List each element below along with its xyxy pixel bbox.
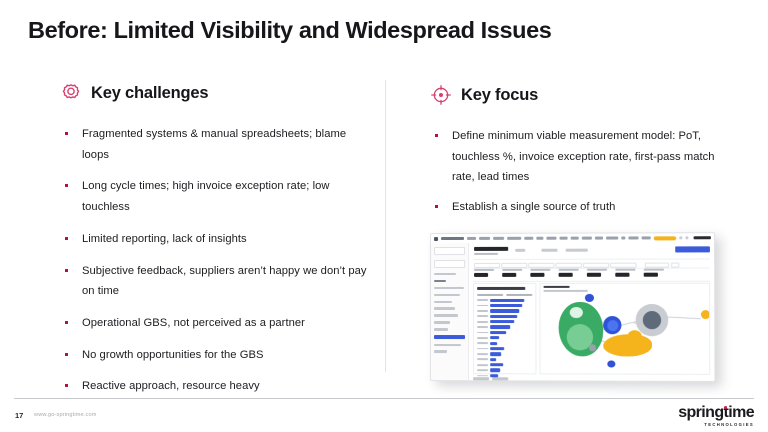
- dashboard-nav-item: [571, 237, 579, 239]
- dashboard-bar-row: [477, 304, 532, 307]
- list-item: No growth opportunities for the GBS: [60, 345, 370, 366]
- brand-logo-dot-icon: [724, 406, 727, 409]
- dashboard-kpi: [502, 269, 522, 277]
- dashboard-nav-item: [595, 237, 604, 239]
- dashboard-sidebar-row: [434, 301, 452, 303]
- dashboard-kpi: [530, 269, 550, 277]
- dashboard-nav-item: [582, 237, 592, 239]
- dashboard-sidebar-row: [434, 280, 446, 282]
- list-item: Long cycle times; high invoice exception…: [60, 176, 370, 217]
- graph-node-darkgrey: [643, 311, 661, 329]
- dashboard-view-title: [474, 247, 508, 251]
- dashboard-sidebar-row: [434, 350, 447, 352]
- dashboard-nav-item: [547, 237, 558, 239]
- graph-node-blue-small: [607, 360, 615, 367]
- dashboard-nav-item: [507, 237, 522, 239]
- dashboard-nav-item: [479, 237, 490, 239]
- dashboard-topbar-icon: [685, 236, 688, 239]
- dashboard-kpi: [587, 269, 607, 277]
- dashboard-bar-row: [477, 352, 532, 355]
- list-item: Reactive approach, resource heavy: [60, 376, 370, 397]
- dashboard-sidebar-row: [434, 328, 448, 330]
- dashboard-filter: [528, 262, 554, 267]
- dashboard-sidebar-box: [434, 247, 465, 255]
- dashboard-brand-text: [441, 237, 464, 240]
- dashboard-corner-logo: [693, 236, 711, 240]
- dashboard-bar-row: [477, 342, 532, 345]
- dashboard-bar-row: [477, 309, 532, 312]
- dashboard-bar-row: [477, 315, 532, 318]
- graph-node-pale: [570, 307, 583, 318]
- graph-node-grey-small: [589, 344, 596, 351]
- dashboard-sidebar-row: [434, 314, 458, 316]
- dashboard-nav-item: [628, 237, 639, 239]
- dashboard-view-subtitle: [474, 253, 498, 255]
- list-item: Limited reporting, lack of insights: [60, 229, 370, 250]
- dashboard-nav-item: [560, 237, 568, 239]
- graph-node-orange-small: [701, 310, 710, 319]
- key-challenges-column: Key challenges Fragmented systems & manu…: [60, 82, 370, 408]
- dashboard-filter: [583, 262, 609, 267]
- dashboard-bar-row: [477, 299, 532, 302]
- key-focus-heading: Key focus: [430, 84, 730, 106]
- brand-logo-wordmark: springtime: [678, 404, 754, 421]
- gear-icon: [60, 82, 82, 104]
- dashboard-footer-tab: [492, 377, 508, 379]
- dashboard-kpi: [615, 269, 635, 277]
- key-focus-list: Define minimum viable measurement model:…: [430, 126, 730, 218]
- dashboard-chip: [541, 249, 557, 252]
- dashboard-screenshot: [430, 233, 712, 381]
- list-item: Operational GBS, not perceived as a part…: [60, 313, 370, 334]
- dashboard-filter: [645, 262, 669, 267]
- dashboard-nav-item: [642, 237, 651, 239]
- dashboard-sidebar-row: [434, 273, 456, 275]
- dashboard-topbar-icon: [680, 236, 683, 239]
- dashboard-bar-row: [477, 363, 532, 366]
- list-item: Fragmented systems & manual spreadsheets…: [60, 124, 370, 165]
- page-title: Before: Limited Visibility and Widesprea…: [28, 17, 551, 44]
- dashboard-nav-item: [525, 237, 534, 239]
- list-item: Establish a single source of truth: [430, 197, 730, 218]
- dashboard-sidebar-row: [434, 344, 461, 346]
- dashboard-sidebar-selected-row: [434, 335, 465, 339]
- target-crosshair-icon: [430, 84, 452, 106]
- graph-node-blue-small: [585, 294, 594, 302]
- dashboard-nav-item: [493, 237, 503, 239]
- dashboard-chip: [566, 249, 588, 252]
- dashboard-sidebar-box: [434, 260, 465, 268]
- dashboard-footer-tabs: [473, 377, 508, 380]
- dashboard-graph-subtitle: [543, 290, 587, 292]
- dashboard-bar-chart-panel: [473, 283, 536, 374]
- dashboard-kpi: [559, 269, 579, 277]
- dashboard-bar-row: [477, 336, 532, 339]
- graph-node-orange: [628, 330, 642, 342]
- dashboard-nav-item: [467, 237, 477, 239]
- dashboard-graph-title: [543, 286, 569, 288]
- dashboard-bar-row: [477, 358, 532, 361]
- dashboard-bar-row: [477, 347, 532, 350]
- key-focus-column: Key focus Define minimum viable measurem…: [430, 84, 730, 227]
- dashboard-brand-icon: [434, 237, 438, 241]
- brand-logo: springtime TECHNOLOGIES: [678, 404, 754, 427]
- dashboard-panel-columns: [477, 294, 532, 296]
- brand-logo-name: springtime: [678, 405, 754, 421]
- dashboard-kpi: [644, 269, 664, 277]
- dashboard-sidebar-row: [434, 294, 460, 296]
- dashboard-chip: [515, 249, 525, 252]
- dashboard-bar-row: [477, 326, 532, 329]
- key-challenges-label: Key challenges: [91, 84, 208, 103]
- dashboard-bar-row: [477, 331, 532, 334]
- dashboard-panel-title: [477, 287, 525, 290]
- key-challenges-heading: Key challenges: [60, 82, 370, 104]
- page-number: 17: [15, 411, 23, 420]
- brand-logo-subtitle: TECHNOLOGIES: [678, 423, 754, 427]
- dashboard-filter: [501, 262, 527, 267]
- key-focus-label: Key focus: [461, 86, 538, 105]
- footer-url: www.go-springtime.com: [34, 412, 97, 418]
- list-item: Define minimum viable measurement model:…: [430, 126, 730, 188]
- key-challenges-list: Fragmented systems & manual spreadsheets…: [60, 124, 370, 397]
- dashboard-bar-row: [477, 369, 532, 372]
- dashboard-screenshot-content: [431, 233, 714, 381]
- dashboard-bar-row: [477, 320, 532, 323]
- dashboard-sidebar: [431, 243, 469, 380]
- dashboard-network-graph: [539, 283, 710, 375]
- dashboard-status-pill: [654, 236, 677, 240]
- dashboard-filter-bar: [473, 258, 710, 268]
- dashboard-main: [469, 242, 714, 381]
- dashboard-footer-tab: [473, 377, 489, 379]
- dashboard-sidebar-row: [434, 307, 455, 309]
- dashboard-primary-button: [675, 246, 710, 252]
- dashboard-kpi-row: [473, 269, 710, 282]
- footer-divider: [14, 398, 754, 399]
- column-divider: [385, 80, 386, 372]
- dashboard-filter: [474, 262, 500, 267]
- dashboard-sidebar-row: [434, 321, 450, 323]
- dashboard-screenshot-frame: [430, 232, 715, 382]
- dashboard-nav-item: [536, 237, 543, 239]
- dashboard-filter: [671, 262, 679, 267]
- dashboard-kpi: [474, 269, 494, 277]
- dashboard-nav-item: [606, 237, 617, 239]
- graph-node-blue-inner: [607, 320, 618, 331]
- dashboard-nav-item: [621, 237, 625, 239]
- dashboard-filter: [556, 262, 582, 267]
- dashboard-sidebar-row: [434, 287, 464, 289]
- dashboard-filter: [610, 262, 636, 267]
- list-item: Subjective feedback, suppliers aren’t ha…: [60, 261, 370, 302]
